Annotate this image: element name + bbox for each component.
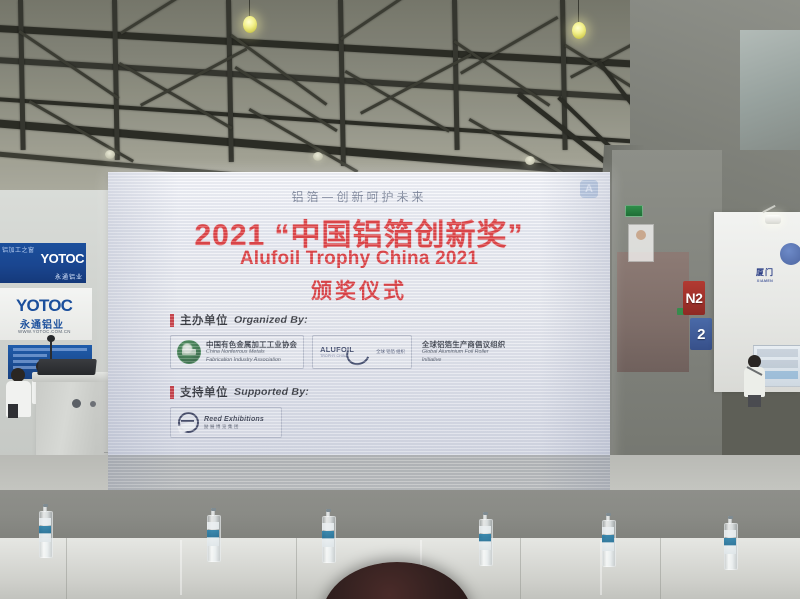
reed-name-cn: 励展博览集团	[204, 424, 264, 430]
reed-exhibitions-e-logo-icon	[178, 412, 199, 433]
booth-left-sign: YOTOC 永通铝业 WWW.YOTOC.COM.CN	[0, 288, 92, 340]
water-bottle-icon	[322, 509, 334, 561]
exit-sign-icon	[625, 205, 643, 217]
section-accent-bar	[170, 386, 174, 399]
supported-by-label-en: Supported By:	[234, 386, 309, 398]
pendant-lamp-icon	[243, 16, 257, 33]
water-bottle-icon	[39, 504, 51, 556]
organizer-logo-row: 中国有色金属加工工业协会 China Nonferrous Metals Fab…	[170, 335, 511, 369]
supporter-logo-reed: Reed Exhibitions 励展博览集团	[170, 407, 282, 438]
booth-left-sign-wordmark: YOTOC	[16, 296, 72, 316]
cnfa-name-cn: 中国有色金属加工工业协会	[206, 340, 297, 349]
organized-by-label-en: Organized By:	[234, 314, 308, 326]
alufoil-wordmark-sub: TROPHY CHINA	[320, 354, 348, 358]
pendant-lamp-icon	[313, 152, 323, 161]
water-bottle-icon	[724, 516, 736, 568]
screen-tagline: 铝箔—创新呵护未来	[108, 188, 610, 205]
booth-right-emblem-icon	[780, 243, 800, 265]
exhibition-hall-photo: N2 2 厦门 XIAMEN 铝加工之窗 YOTOC 永通铝业 YOTOC 永通…	[0, 0, 800, 599]
alufoil-swoosh-arc-icon	[343, 339, 374, 369]
cnfa-name-en-2: Fabrication Industry Association	[206, 357, 297, 364]
pendant-lamp-cord	[578, 0, 579, 24]
hall-window-band	[740, 30, 800, 150]
pendant-lamp-icon	[525, 156, 535, 165]
supported-by-heading: 支持单位 Supported By:	[170, 384, 309, 400]
screen-title-en: Alufoil Trophy China 2021	[108, 248, 610, 270]
alufoil-swoosh-logo-icon: ALUFOIL TROPHY CHINA	[319, 341, 371, 363]
organized-by-label-cn: 主办单位	[180, 312, 228, 328]
booth-left-sign-url: WWW.YOTOC.COM.CN	[18, 329, 71, 334]
led-stage-screen: A 铝箔—创新呵护未来 2021 “中国铝箔创新奖” Alufoil Troph…	[108, 172, 610, 490]
booth-left-banner: 铝加工之窗 YOTOC 永通铝业	[0, 243, 86, 283]
water-bottle-icon	[207, 508, 219, 560]
screen-subtitle-cn: 颁奖仪式	[108, 275, 610, 305]
hall-number-sign: 2	[690, 318, 712, 350]
gafri-name-en-2: Initiative	[422, 357, 506, 364]
booth-left-banner-text: 铝加工之窗	[2, 247, 35, 256]
lectern-knob-icon	[72, 399, 81, 408]
organizer-logo-cnfa: 中国有色金属加工工业协会 China Nonferrous Metals Fab…	[170, 335, 304, 369]
organized-by-heading: 主办单位 Organized By:	[170, 312, 511, 328]
booth-right-name-cn: 厦门	[742, 268, 788, 277]
organizer-logo-alufoil: ALUFOIL TROPHY CHINA 全球 铝箔 组织	[312, 335, 412, 369]
hall-zone-sign-n2: N2	[683, 281, 705, 315]
organizer-logo-gafri: 全球铝箔生产商倡议组织 Global Aluminium Foil Roller…	[420, 335, 512, 369]
microphone-icon	[47, 335, 55, 342]
water-bottle-icon	[479, 512, 491, 564]
water-bottle-icon	[602, 513, 614, 565]
pendant-lamp-icon	[572, 22, 586, 39]
supported-by-section: 支持单位 Supported By: Reed Exhibitions 励展博览…	[170, 384, 309, 438]
booth-left-wordmark: YOTOC	[41, 251, 85, 266]
lectern-knob-icon	[90, 401, 96, 407]
lectern-laptop-icon	[37, 359, 97, 375]
booth-right-logo: 厦门 XIAMEN	[742, 268, 788, 288]
spotlight-icon	[765, 215, 781, 224]
alufoil-badge-cn: 全球 铝箔 组织	[376, 349, 405, 355]
supported-by-label-cn: 支持单位	[180, 384, 228, 400]
pendant-lamp-icon	[105, 150, 115, 159]
section-accent-bar	[170, 314, 174, 327]
booth-left-name-cn: 永通铝业	[55, 272, 83, 281]
reed-name-en: Reed Exhibitions	[204, 415, 264, 424]
cnfa-name-en-1: China Nonferrous Metals	[206, 349, 297, 356]
organized-by-section: 主办单位 Organized By: 中国有色金属加工工业协会 China No…	[170, 312, 511, 369]
gafri-name-cn: 全球铝箔生产商倡议组织	[422, 340, 506, 349]
gafri-name-en-1: Global Aluminium Foil Roller	[422, 349, 506, 356]
booth-right-name-en: XIAMEN	[742, 277, 788, 286]
cnfa-circular-logo-icon	[177, 340, 201, 364]
wall-poster	[628, 224, 654, 262]
